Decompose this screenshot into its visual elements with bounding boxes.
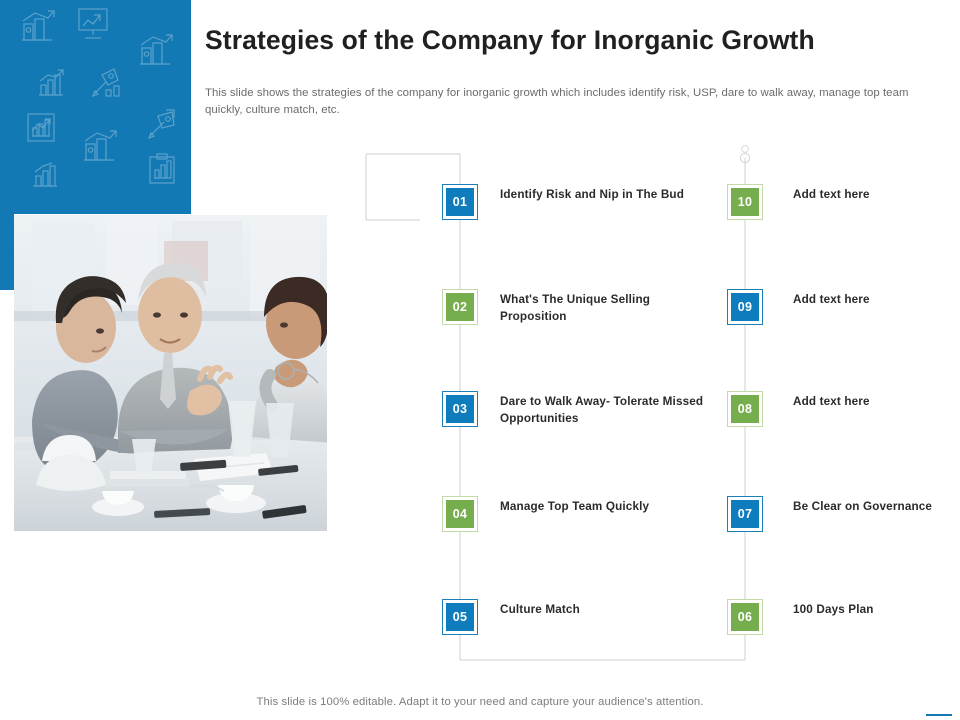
timeline-item-04[interactable]: 04 Manage Top Team Quickly (442, 496, 715, 532)
badge-frame-02: 02 (442, 289, 478, 325)
timeline-label-09: Add text here (793, 289, 960, 309)
growth-chart-building-icon (18, 8, 56, 42)
timeline-label-02: What's The Unique Selling Proposition (500, 289, 715, 325)
analytics-report-icon (24, 110, 58, 144)
timeline-item-08[interactable]: 08 Add text here (727, 391, 960, 427)
growth-chart-presentation-icon (76, 6, 110, 40)
arrow-up-rocket-icon (144, 108, 178, 142)
badge-number-02: 02 (444, 291, 476, 323)
timeline-label-06: 100 Days Plan (793, 599, 960, 619)
badge-frame-08: 08 (727, 391, 763, 427)
growth-chart-building-icon (136, 32, 174, 66)
badge-number-08: 08 (729, 393, 761, 425)
timeline-label-04: Manage Top Team Quickly (500, 496, 715, 516)
timeline-item-06[interactable]: 06 100 Days Plan (727, 599, 960, 635)
timeline-item-01[interactable]: 01 Identify Risk and Nip in The Bud (442, 184, 715, 220)
timeline-item-07[interactable]: 07 Be Clear on Governance (727, 496, 960, 532)
badge-frame-03: 03 (442, 391, 478, 427)
business-team-meeting-photo (14, 215, 327, 531)
timeline-label-10: Add text here (793, 184, 960, 204)
photo-illustration (14, 215, 327, 531)
bar-chart-arrow-icon (36, 68, 66, 98)
growth-chart-building-icon (80, 128, 118, 162)
badge-frame-10: 10 (727, 184, 763, 220)
rocket-growth-icon (88, 66, 124, 100)
clipboard-chart-icon (146, 152, 178, 186)
badge-frame-01: 01 (442, 184, 478, 220)
badge-number-06: 06 (729, 601, 761, 633)
badge-number-04: 04 (444, 498, 476, 530)
brand-panel-tail (0, 214, 14, 290)
badge-number-05: 05 (444, 601, 476, 633)
timeline-label-07: Be Clear on Governance (793, 496, 960, 516)
timeline-dot-icon (742, 146, 749, 153)
timeline-item-09[interactable]: 09 Add text here (727, 289, 960, 325)
badge-number-01: 01 (444, 186, 476, 218)
badge-number-10: 10 (729, 186, 761, 218)
page-title: Strategies of the Company for Inorganic … (205, 25, 945, 55)
footer-note: This slide is 100% editable. Adapt it to… (0, 696, 960, 708)
timeline-item-03[interactable]: 03 Dare to Walk Away- Tolerate Missed Op… (442, 391, 715, 427)
timeline-item-02[interactable]: 02 What's The Unique Selling Proposition (442, 289, 715, 325)
badge-number-03: 03 (444, 393, 476, 425)
timeline-label-08: Add text here (793, 391, 960, 411)
timeline-label-01: Identify Risk and Nip in The Bud (500, 184, 715, 204)
timeline-item-10[interactable]: 10 Add text here (727, 184, 960, 220)
page-subtitle: This slide shows the strategies of the c… (205, 85, 920, 118)
timeline-dot-icon (740, 153, 749, 162)
timeline-label-05: Culture Match (500, 599, 715, 619)
brand-decorative-panel (0, 0, 191, 214)
badge-number-09: 09 (729, 291, 761, 323)
timeline-label-03: Dare to Walk Away- Tolerate Missed Oppor… (500, 391, 715, 427)
badge-frame-04: 04 (442, 496, 478, 532)
badge-frame-06: 06 (727, 599, 763, 635)
badge-number-07: 07 (729, 498, 761, 530)
badge-frame-05: 05 (442, 599, 478, 635)
footer-accent-rule (926, 714, 952, 716)
badge-frame-09: 09 (727, 289, 763, 325)
timeline-item-05[interactable]: 05 Culture Match (442, 599, 715, 635)
bar-chart-icon (30, 160, 60, 190)
badge-frame-07: 07 (727, 496, 763, 532)
